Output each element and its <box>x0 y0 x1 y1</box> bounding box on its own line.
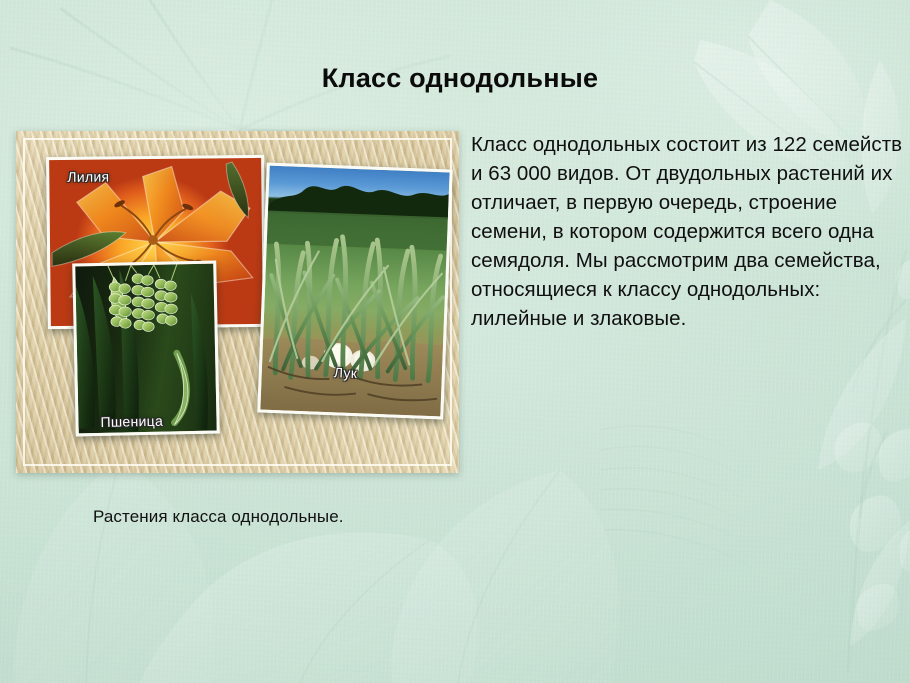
wheat-ears-art <box>75 264 216 434</box>
photo-label-onion: Лук <box>334 364 358 381</box>
image-caption: Растения класса однодольные. <box>93 507 344 527</box>
photo-onion: Лук <box>257 163 452 420</box>
photo-label-wheat: Пшеница <box>100 413 163 430</box>
page-title: Класс однодольные <box>0 62 910 94</box>
photo-label-lily: Лилия <box>67 168 109 184</box>
plant-collage-image: Лилия <box>16 131 459 473</box>
body-paragraph: Класс однодольных состоит из 122 семейст… <box>471 130 903 333</box>
photo-wheat: Пшеница <box>72 261 220 437</box>
slide-canvas: Класс однодольные <box>0 0 910 683</box>
